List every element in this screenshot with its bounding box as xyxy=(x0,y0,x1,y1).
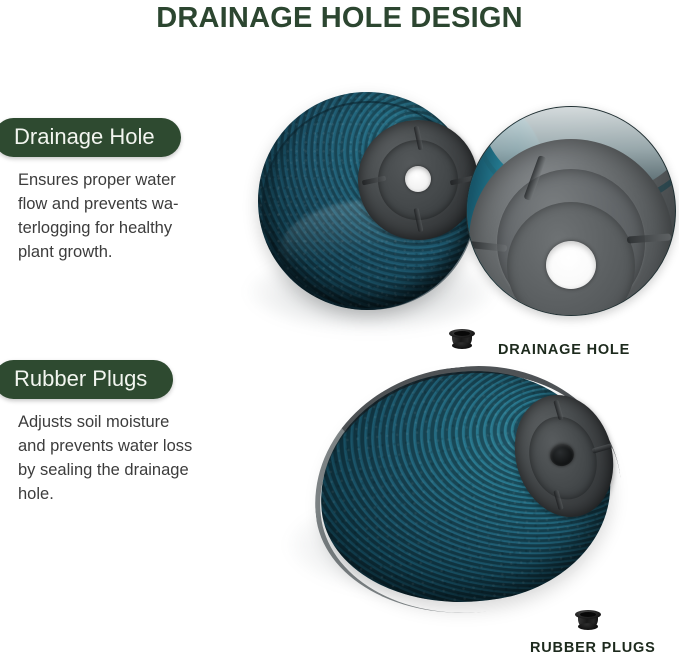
lower-pot-image xyxy=(320,372,610,602)
badge-rubber-plugs: Rubber Plugs xyxy=(0,360,173,399)
drainage-hole-opening xyxy=(405,166,431,192)
page-title: DRAINAGE HOLE DESIGN xyxy=(0,2,679,35)
caption-drainage-hole: DRAINAGE HOLE xyxy=(498,342,630,358)
inset-drainage-hole xyxy=(546,241,596,289)
caption-rubber-plugs: RUBBER PLUGS xyxy=(530,640,656,656)
plug-foot xyxy=(452,342,472,349)
plug-rim-inner xyxy=(580,612,596,617)
feature-body-line: terlogging for healthy xyxy=(18,217,213,241)
rubber-plug-icon xyxy=(449,329,475,349)
feature-block-rubber-plugs: Rubber Plugs Adjusts soil moisture and p… xyxy=(0,360,250,507)
upper-pot-image xyxy=(258,92,476,310)
badge-drainage-hole: Drainage Hole xyxy=(0,118,181,157)
rubber-plug-icon xyxy=(575,610,601,630)
feature-body-line: by sealing the drainage xyxy=(18,459,213,483)
feature-body-rubber-plugs: Adjusts soil moisture and prevents water… xyxy=(18,411,213,507)
feature-body-line: Ensures proper water xyxy=(18,169,213,193)
feature-block-drainage-hole: Drainage Hole Ensures proper water flow … xyxy=(0,118,250,265)
feature-body-line: plant growth. xyxy=(18,241,213,265)
plug-foot xyxy=(578,623,598,630)
feature-body-line: hole. xyxy=(18,483,213,507)
feature-body-line: Adjusts soil moisture xyxy=(18,411,213,435)
feature-body-line: and prevents water loss xyxy=(18,435,213,459)
plug-rim-inner xyxy=(454,331,470,336)
feature-body-drainage-hole: Ensures proper water flow and prevents w… xyxy=(18,169,213,265)
feature-body-line: flow and prevents wa- xyxy=(18,193,213,217)
magnifier-inset-drainage-hole xyxy=(466,106,676,316)
